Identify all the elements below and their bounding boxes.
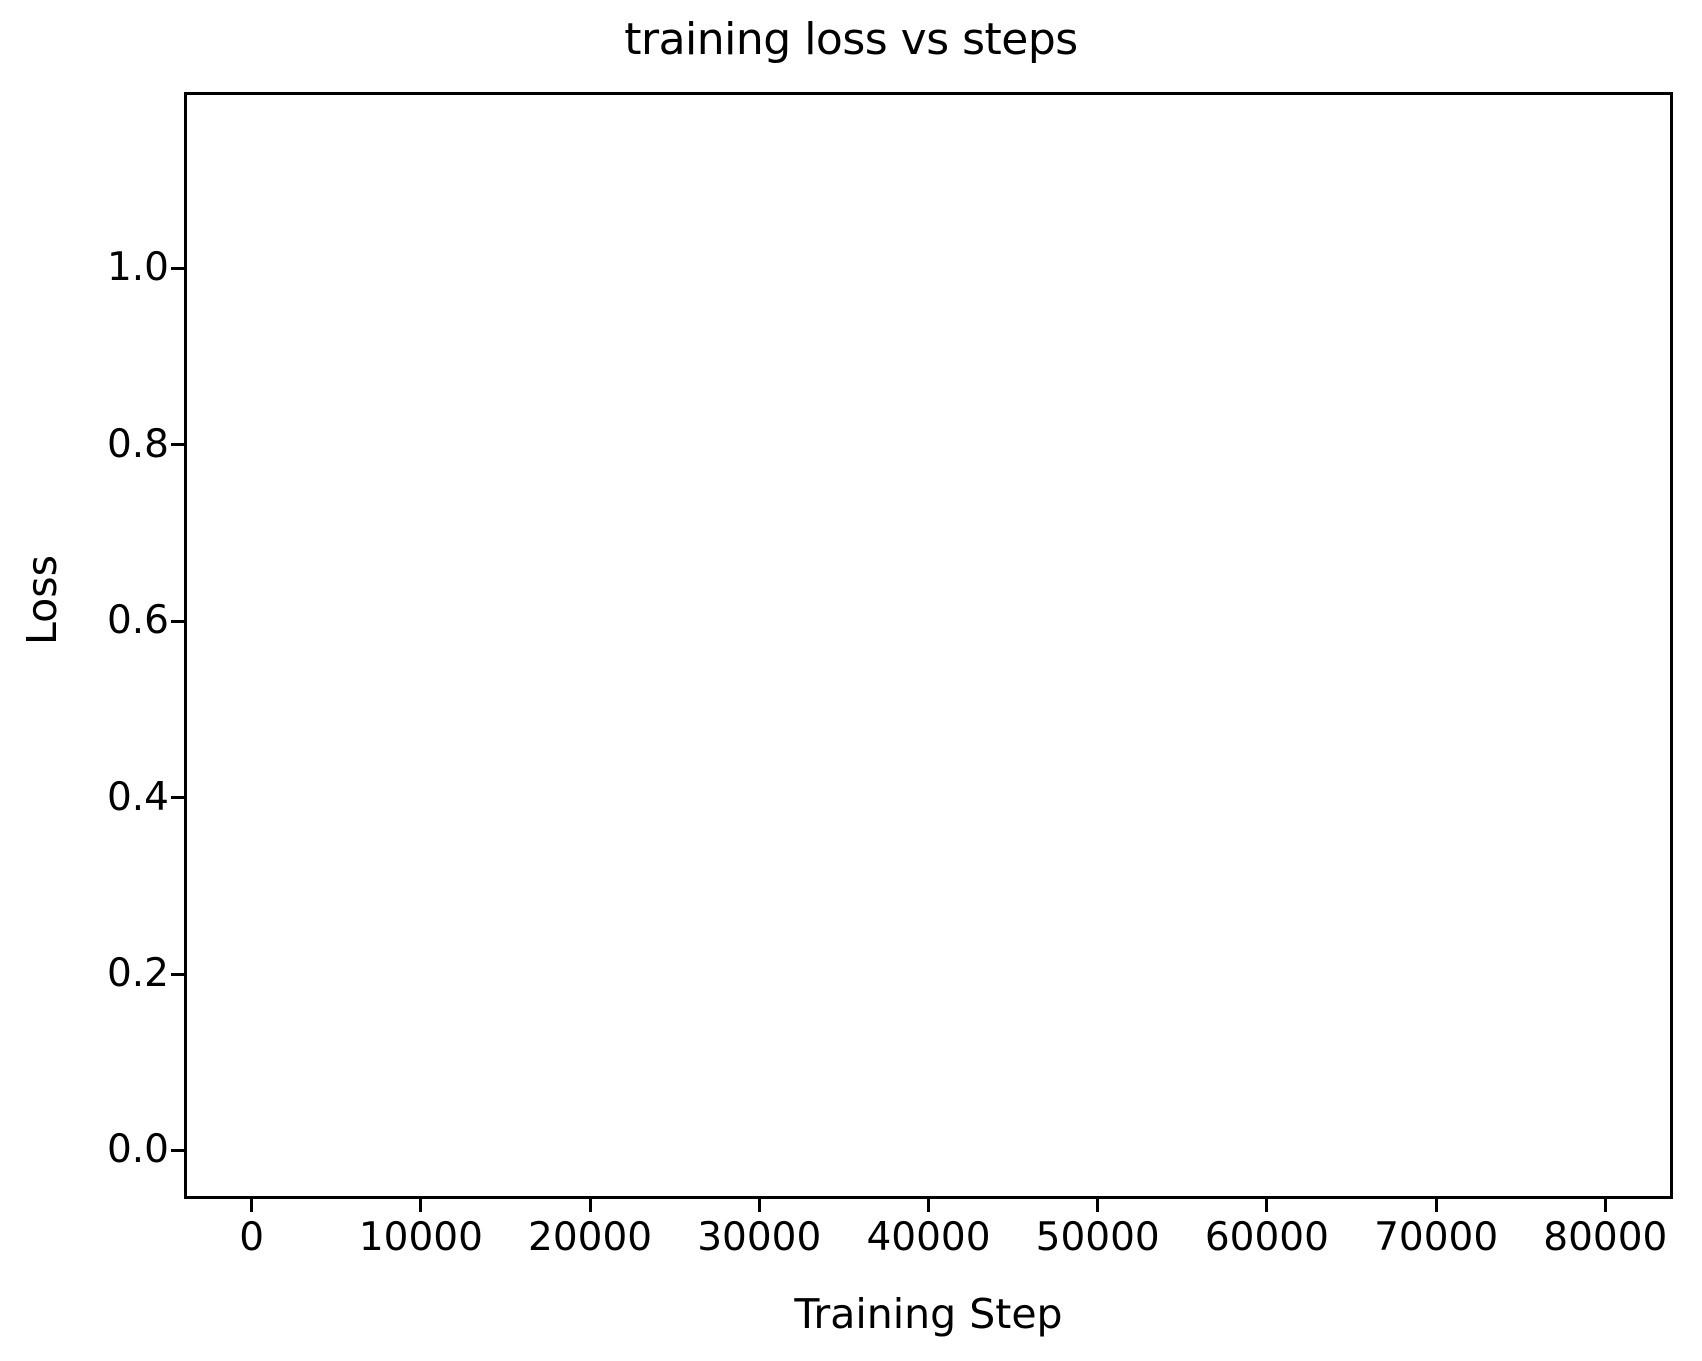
y-tick-mark (171, 443, 184, 446)
y-axis-label: Loss (18, 555, 66, 645)
x-tick-label: 40000 (866, 1218, 990, 1257)
x-tick-label: 10000 (359, 1218, 483, 1257)
y-tick-label: 0.4 (107, 778, 169, 817)
x-tick-mark (1435, 1199, 1438, 1212)
x-tick-label: 0 (239, 1218, 264, 1257)
chart-title: training loss vs steps (0, 14, 1702, 65)
x-tick-label: 30000 (697, 1218, 821, 1257)
y-tick-label: 1.0 (107, 248, 169, 287)
x-tick-mark (1265, 1199, 1268, 1212)
y-tick-mark (171, 973, 184, 976)
x-tick-mark (1096, 1199, 1099, 1212)
x-tick-label: 60000 (1205, 1218, 1329, 1257)
y-tick-label: 0.8 (107, 425, 169, 464)
x-tick-mark (758, 1199, 761, 1212)
x-tick-label: 50000 (1036, 1218, 1160, 1257)
x-tick-mark (250, 1199, 253, 1212)
x-tick-label: 20000 (528, 1218, 652, 1257)
x-tick-mark (1604, 1199, 1607, 1212)
y-tick-label: 0.6 (107, 601, 169, 640)
y-tick-mark (171, 620, 184, 623)
x-tick-mark (927, 1199, 930, 1212)
matplotlib-figure: training loss vs steps Training Step Los… (0, 0, 1702, 1361)
x-tick-label: 70000 (1374, 1218, 1498, 1257)
x-tick-label: 80000 (1543, 1218, 1667, 1257)
y-tick-mark (171, 267, 184, 270)
x-tick-mark (589, 1199, 592, 1212)
y-tick-mark (171, 1149, 184, 1152)
loss-curve-canvas (187, 95, 1673, 1199)
x-axis-label: Training Step (184, 1290, 1673, 1338)
y-tick-mark (171, 796, 184, 799)
plot-area (184, 92, 1673, 1199)
x-tick-mark (419, 1199, 422, 1212)
y-tick-label: 0.2 (107, 954, 169, 993)
y-tick-label: 0.0 (107, 1130, 169, 1169)
